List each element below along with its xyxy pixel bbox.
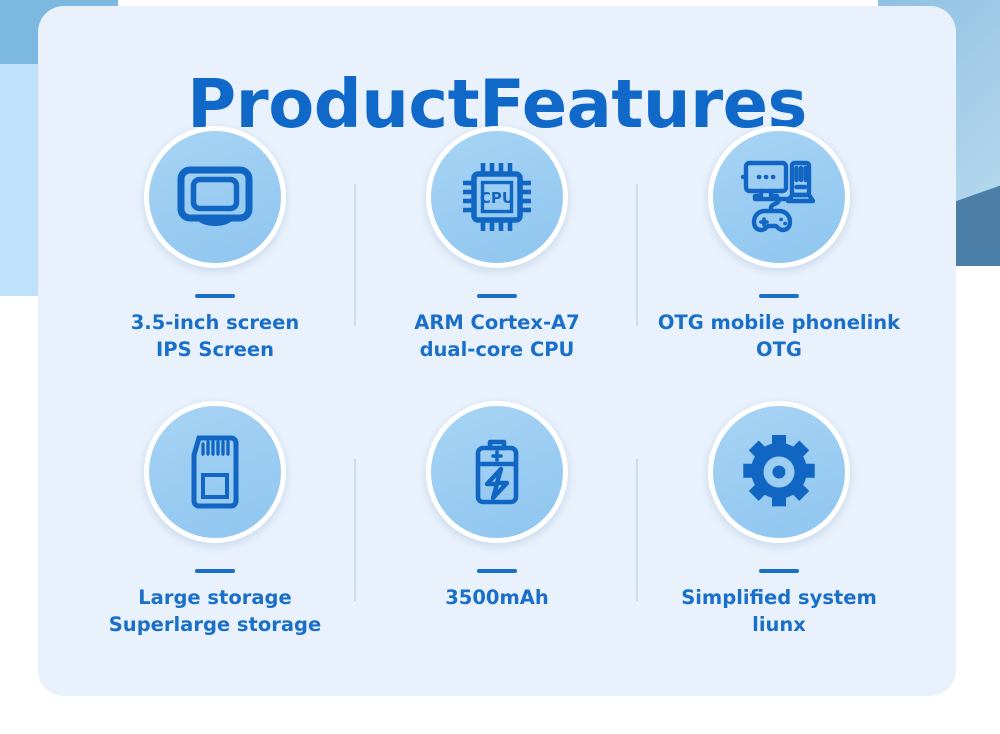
- feature-label: ARM Cortex-A7 dual-core CPU: [414, 310, 580, 364]
- game-console-link-icon: [735, 153, 823, 241]
- feature-item-cpu[interactable]: CPU ARM Cortex-A7 dual-core CPU: [356, 126, 638, 401]
- icon-circle: [144, 401, 286, 543]
- monitor-screen-icon: [172, 154, 258, 240]
- label-divider: [759, 294, 799, 298]
- sd-card-icon: [173, 430, 257, 514]
- label-divider: [195, 294, 235, 298]
- cpu-icon-text: CPU: [480, 189, 514, 207]
- label-divider: [477, 569, 517, 573]
- feature-label: Simplified system liunx: [681, 585, 877, 639]
- feature-item-system[interactable]: Simplified system liunx: [638, 401, 920, 676]
- feature-item-otg[interactable]: OTG mobile phonelink OTG: [638, 126, 920, 401]
- feature-grid: 3.5-inch screen IPS Screen: [74, 126, 920, 676]
- feature-label: 3.5-inch screen IPS Screen: [131, 310, 300, 364]
- label-divider: [195, 569, 235, 573]
- battery-bolt-icon: [456, 431, 538, 513]
- icon-circle: [708, 126, 850, 268]
- feature-label: Large storage Superlarge storage: [109, 585, 321, 639]
- feature-label: 3500mAh: [445, 585, 549, 612]
- icon-circle: [708, 401, 850, 543]
- feature-item-screen[interactable]: 3.5-inch screen IPS Screen: [74, 126, 356, 401]
- feature-item-battery[interactable]: 3500mAh: [356, 401, 638, 676]
- icon-circle: [426, 401, 568, 543]
- label-divider: [759, 569, 799, 573]
- cpu-chip-icon: CPU: [455, 155, 539, 239]
- feature-label: OTG mobile phonelink OTG: [658, 310, 900, 364]
- gear-settings-icon: [736, 429, 822, 515]
- feature-card: ProductFeatures 3.5-inch screen IPS Scre…: [38, 6, 956, 696]
- label-divider: [477, 294, 517, 298]
- icon-circle: CPU: [426, 126, 568, 268]
- icon-circle: [144, 126, 286, 268]
- feature-item-storage[interactable]: Large storage Superlarge storage: [74, 401, 356, 676]
